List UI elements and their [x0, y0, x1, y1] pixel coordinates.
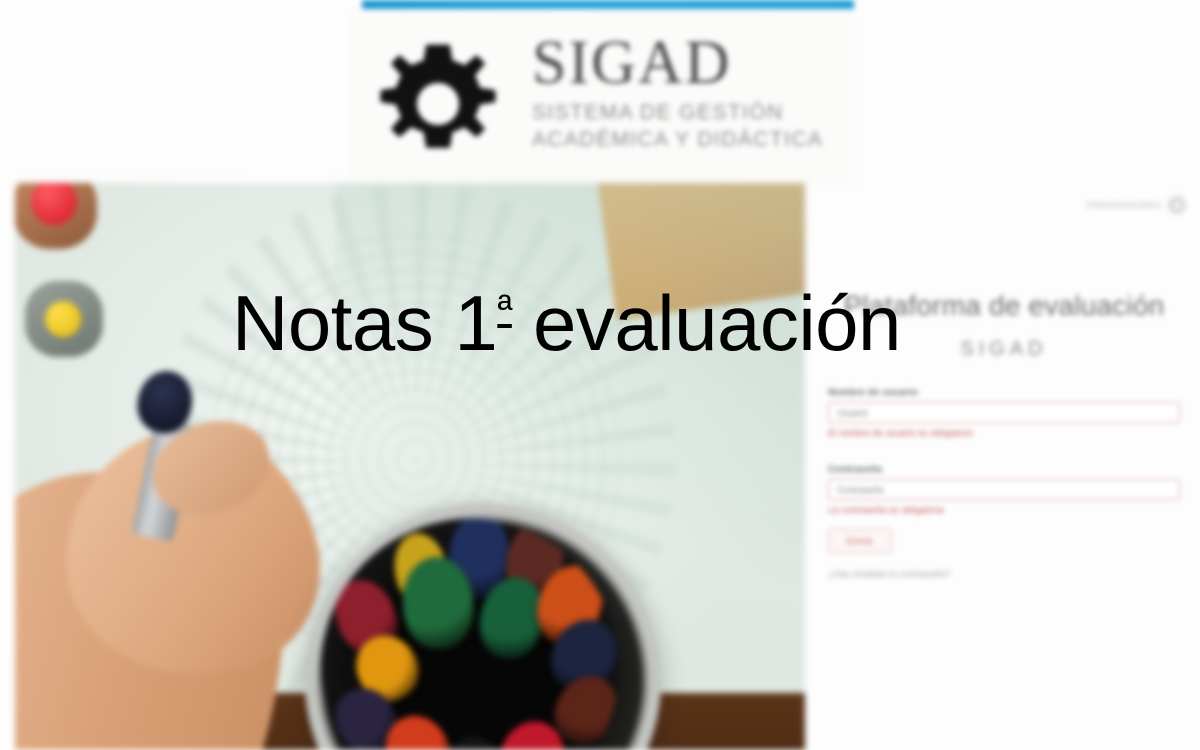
overlay-title-ordinal: ª [497, 286, 512, 332]
forgot-password-link[interactable]: ¿Has olvidado tu contraseña? [828, 569, 1180, 579]
username-label: Nombre de usuario [828, 387, 1180, 398]
password-field-group: Contraseña La contraseña es obligatoria [828, 464, 1180, 515]
screenshot-root: SIGAD SISTEMA DE GESTIÓN ACADÉMICA Y DID… [0, 0, 1200, 750]
brand-logo: SIGAD SISTEMA DE GESTIÓN ACADÉMICA Y DID… [372, 26, 872, 171]
crayons-photo [15, 183, 805, 750]
overlay-title: Notas 1ª evaluación [232, 284, 901, 362]
videotutoriales-link[interactable]: Videotutoriales [1086, 196, 1186, 214]
brand-text: SIGAD SISTEMA DE GESTIÓN ACADÉMICA Y DID… [532, 32, 872, 154]
videotutoriales-label: Videotutoriales [1086, 199, 1161, 211]
overlay-title-main: Notas 1 [232, 279, 497, 367]
username-input[interactable] [828, 402, 1180, 423]
gear-icon [372, 38, 504, 170]
password-error: La contraseña es obligatoria [828, 505, 1180, 515]
brand-tagline-line2: ACADÉMICA Y DIDÁCTICA [532, 127, 872, 154]
password-input[interactable] [828, 479, 1180, 500]
brand-tagline-line1: SISTEMA DE GESTIÓN [532, 100, 872, 127]
password-label: Contraseña [828, 464, 1180, 475]
crayon [444, 736, 502, 750]
username-field-group: Nombre de usuario El nombre de usuario e… [828, 387, 1180, 438]
accent-top-bar [362, 0, 854, 9]
overlay-title-rest: evaluación [512, 279, 901, 367]
login-submit-button[interactable]: Entrar [828, 529, 892, 553]
username-error: El nombre de usuario es obligatorio [828, 428, 1180, 438]
brand-name: SIGAD [532, 32, 872, 94]
play-circle-icon [1168, 196, 1186, 214]
